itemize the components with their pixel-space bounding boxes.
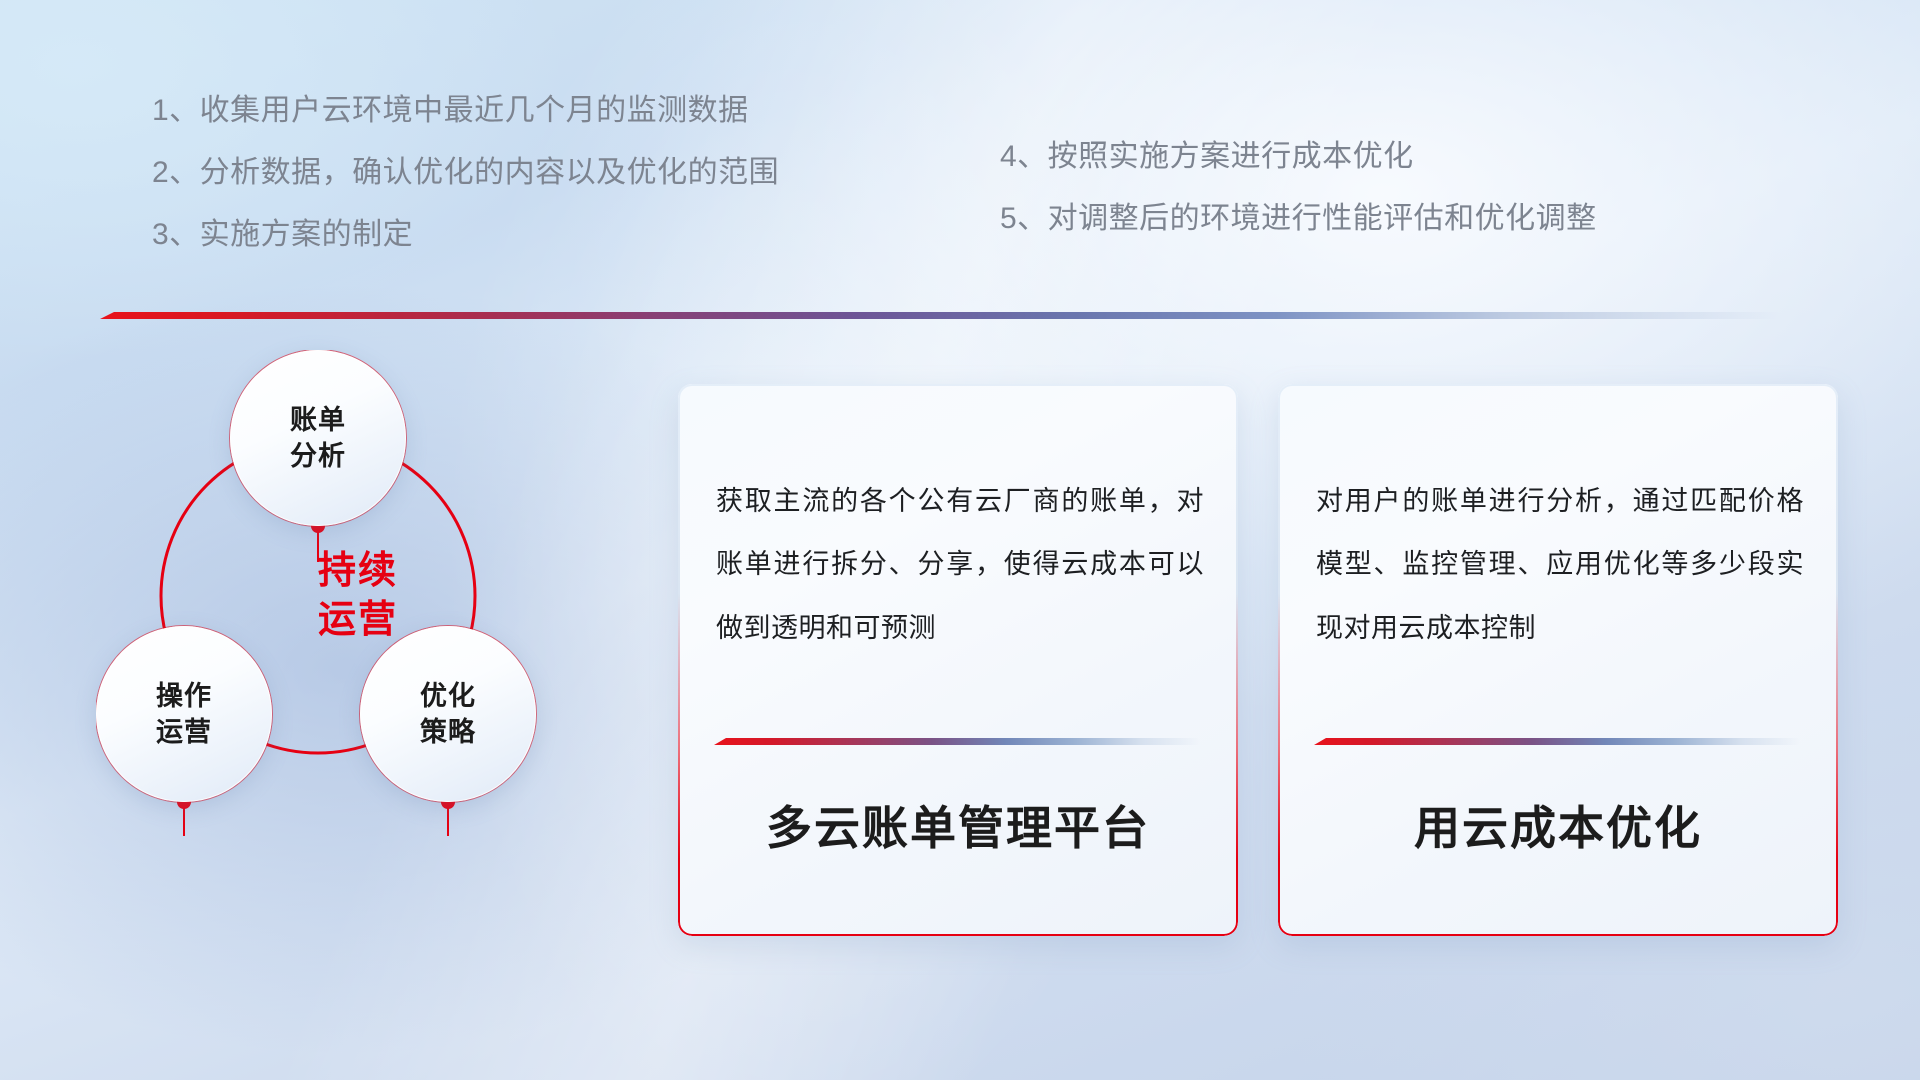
venn-bubble-label-line2: 策略 — [420, 714, 476, 750]
step-item-2: 2、分析数据，确认优化的内容以及优化的范围 — [152, 158, 779, 188]
venn-bubble-label-line1: 操作 — [156, 678, 212, 714]
venn-bubble-label-line1: 账单 — [290, 402, 346, 438]
card-body-text: 对用户的账单进行分析，通过匹配价格模型、监控管理、应用优化等多少段实现对用云成本… — [1316, 470, 1804, 660]
top-divider-rule — [100, 312, 1780, 319]
card-title: 用云成本优化 — [1278, 792, 1838, 858]
card-title: 多云账单管理平台 — [678, 792, 1238, 858]
card-multi-cloud-billing[interactable]: 获取主流的各个公有云厂商的账单，对账单进行拆分、分享，使得云成本可以做到透明和可… — [678, 384, 1238, 936]
card-divider-rule — [714, 738, 1200, 745]
card-divider-rule — [1314, 738, 1800, 745]
steps-section: 1、收集用户云环境中最近几个月的监测数据 2、分析数据，确认优化的内容以及优化的… — [0, 96, 1920, 276]
step-item-5: 5、对调整后的环境进行性能评估和优化调整 — [1000, 204, 1597, 234]
venn-bubble-operations[interactable]: 操作 运营 — [96, 626, 272, 802]
step-item-3: 3、实施方案的制定 — [152, 220, 779, 250]
venn-center-label: 持续 运营 — [258, 526, 458, 666]
step-item-1: 1、收集用户云环境中最近几个月的监测数据 — [152, 96, 779, 126]
venn-diagram: 账单 分析 操作 运营 优化 策略 持续 运营 — [96, 350, 656, 940]
card-body-text: 获取主流的各个公有云厂商的账单，对账单进行拆分、分享，使得云成本可以做到透明和可… — [716, 470, 1204, 660]
venn-center-line1: 持续 — [318, 547, 398, 596]
steps-list-left: 1、收集用户云环境中最近几个月的监测数据 2、分析数据，确认优化的内容以及优化的… — [152, 96, 779, 282]
venn-bubble-label-line1: 优化 — [420, 678, 476, 714]
venn-bubble-label-line2: 分析 — [290, 438, 346, 474]
step-item-4: 4、按照实施方案进行成本优化 — [1000, 142, 1597, 172]
venn-bubble-bill-analysis[interactable]: 账单 分析 — [230, 350, 406, 526]
venn-center-line2: 运营 — [318, 596, 398, 645]
card-cloud-cost-optimization[interactable]: 对用户的账单进行分析，通过匹配价格模型、监控管理、应用优化等多少段实现对用云成本… — [1278, 384, 1838, 936]
steps-list-right: 4、按照实施方案进行成本优化 5、对调整后的环境进行性能评估和优化调整 — [1000, 142, 1597, 266]
venn-bubble-label-line2: 运营 — [156, 714, 212, 750]
